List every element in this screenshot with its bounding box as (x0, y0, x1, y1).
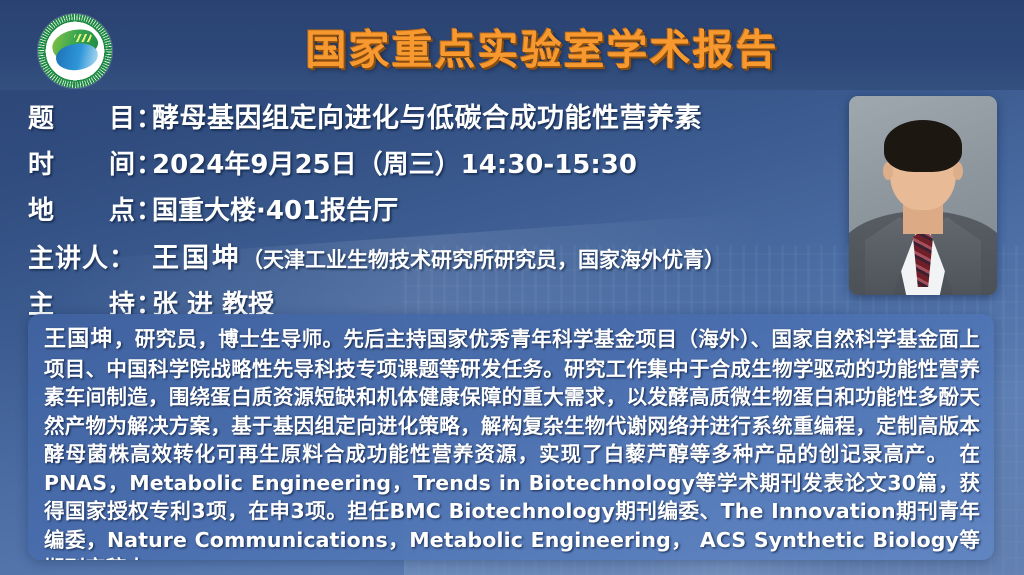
speaker-portrait (849, 96, 997, 295)
seminar-info-block: 题 目： 酵母基因组定向进化与低碳合成功能性营养素 时 间： 2024年9月25… (28, 96, 858, 330)
portrait-hair (884, 120, 962, 172)
value-topic: 酵母基因组定向进化与低碳合成功能性营养素 (152, 96, 702, 135)
value-location: 国重大楼·401报告厅 (152, 190, 398, 227)
info-row-speaker: 主讲人： 王国坤（天津工业生物技术研究所研究员，国家海外优青） (28, 236, 858, 275)
label-topic: 题 目： (28, 98, 152, 135)
poster-title: 国家重点实验室学术报告 (0, 16, 1024, 76)
bio-speaker-name: 王国坤 (44, 327, 114, 352)
poster-header: 国家重点实验室学术报告 (0, 0, 1024, 90)
value-speaker-affiliation: （天津工业生物技术研究所研究员，国家海外优青） (242, 248, 725, 272)
info-row-location: 地 点： 国重大楼·401报告厅 (28, 190, 858, 227)
speaker-bio-text: 王国坤，研究员，博士生导师。先后主持国家优秀青年科学基金项目（海外）、国家自然科… (44, 325, 980, 560)
seminar-poster: 国家重点实验室学术报告 题 目： 酵母基因组定向进化与低碳合成功能性营养素 时 … (0, 0, 1024, 575)
info-row-time: 时 间： 2024年9月25日（周三）14:30-15:30 (28, 144, 858, 181)
value-time: 2024年9月25日（周三）14:30-15:30 (152, 144, 637, 181)
label-speaker: 主讲人： (28, 238, 152, 275)
label-location: 地 点： (28, 190, 152, 227)
info-row-topic: 题 目： 酵母基因组定向进化与低碳合成功能性营养素 (28, 96, 858, 135)
label-time: 时 间： (28, 144, 152, 181)
value-speaker-name: 王国坤 (152, 243, 242, 274)
bio-body: ，研究员，博士生导师。先后主持国家优秀青年科学基金项目（海外）、国家自然科学基金… (44, 327, 980, 560)
speaker-bio-panel: 王国坤，研究员，博士生导师。先后主持国家优秀青年科学基金项目（海外）、国家自然科… (28, 314, 994, 560)
